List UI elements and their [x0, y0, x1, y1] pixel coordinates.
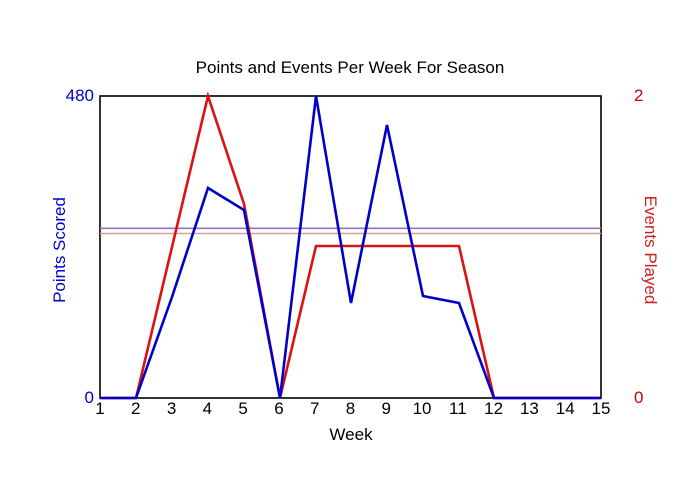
- y-axis-left-title: Points Scored: [50, 170, 70, 330]
- x-axis-tick-label: 7: [300, 399, 330, 419]
- x-axis-tick-label: 4: [192, 399, 222, 419]
- x-axis-tick-label: 6: [264, 399, 294, 419]
- y-right-tick-min: 0: [634, 388, 658, 408]
- y-left-tick-max: 480: [40, 86, 94, 106]
- y-right-tick-max: 2: [634, 86, 658, 106]
- x-axis-tick-label: 13: [514, 399, 544, 419]
- x-axis-tick-label: 2: [121, 399, 151, 419]
- x-axis-tick-label: 5: [228, 399, 258, 419]
- x-axis-tick-label: 1: [85, 399, 115, 419]
- x-axis-title: Week: [100, 425, 602, 445]
- chart-canvas: Points and Events Per Week For Season 48…: [0, 0, 700, 500]
- x-axis-tick-label: 15: [586, 399, 616, 419]
- x-axis-tick-label: 11: [443, 399, 473, 419]
- x-axis-tick-label: 12: [479, 399, 509, 419]
- x-axis-tick-label: 14: [550, 399, 580, 419]
- x-axis-tick-label: 9: [371, 399, 401, 419]
- x-axis-tick-label: 10: [407, 399, 437, 419]
- y-axis-right-title: Events Played: [640, 170, 660, 330]
- x-axis-tick-label: 8: [336, 399, 366, 419]
- x-axis-tick-label: 3: [157, 399, 187, 419]
